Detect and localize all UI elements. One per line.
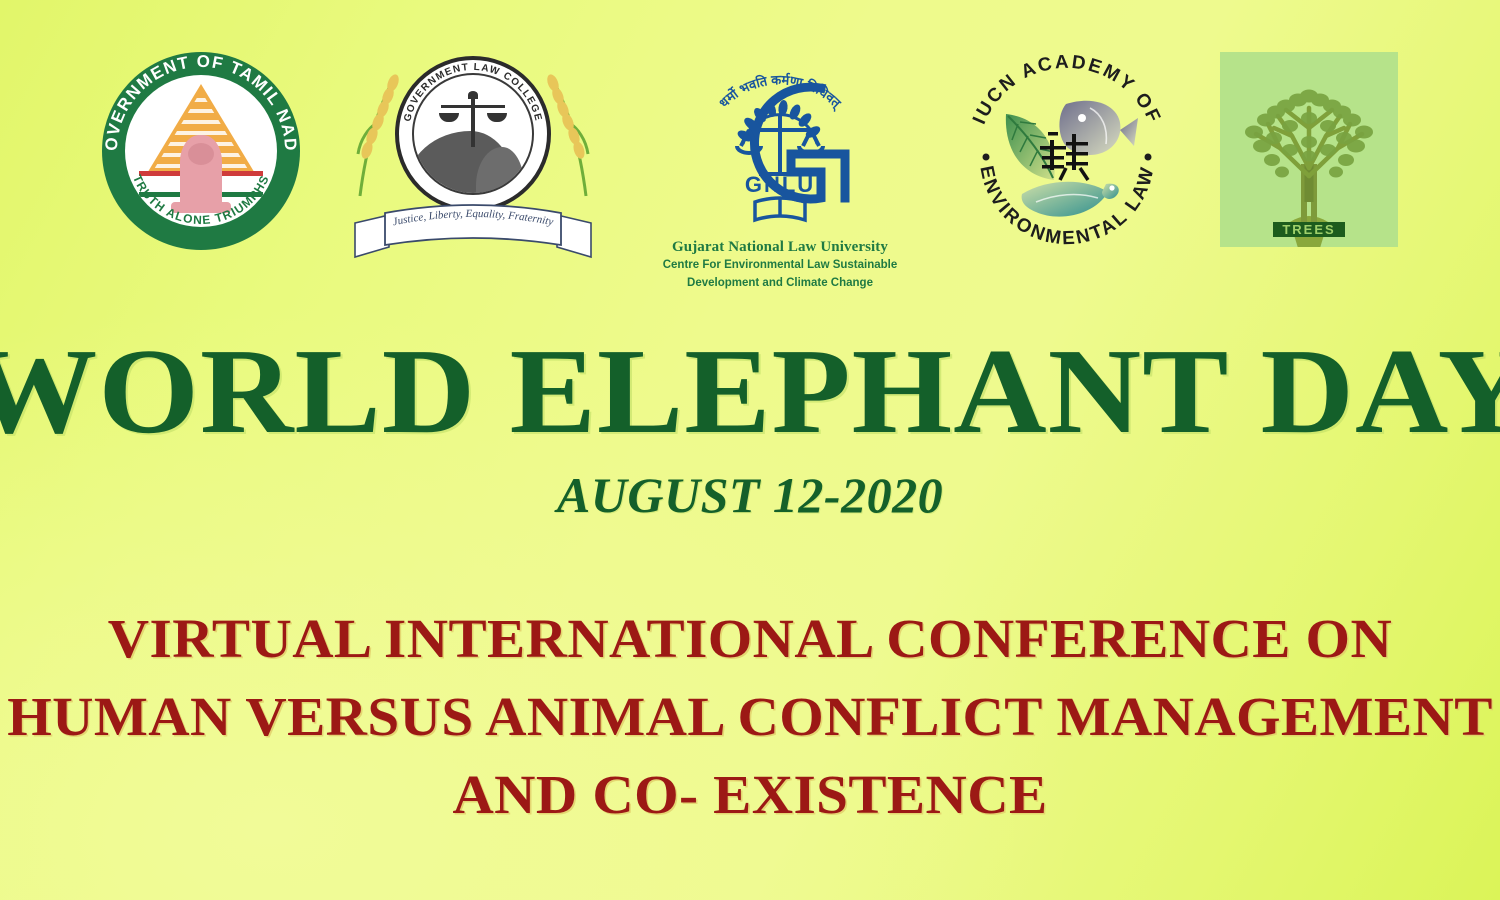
tn-inner-disc bbox=[125, 75, 277, 227]
trees-wordmark-label: TREES bbox=[1282, 222, 1335, 237]
logo-iucn-academy: IUCN ACADEMY OF ENVIRONMENTAL LAW bbox=[962, 52, 1172, 262]
svg-text:GOVERNMENT LAW COLLEGE: GOVERNMENT LAW COLLEGE bbox=[402, 62, 544, 123]
gnlu-sub-label-2: Development and Climate Change bbox=[663, 276, 898, 292]
lc-ring-text: GOVERNMENT LAW COLLEGE bbox=[395, 56, 551, 212]
tamil-nadu-emblem-icon: GOVERNMENT OF TAMIL NADU TRUTH ALONE TRI… bbox=[102, 52, 300, 250]
gnlu-monogram-label: GNLU bbox=[745, 172, 815, 197]
gnlu-name-label: Gujarat National Law University bbox=[663, 238, 898, 256]
gnlu-mark-icon: धर्मो भवति कर्मणा विधिवत् bbox=[685, 52, 875, 234]
gnlu-sub-label-1: Centre For Environmental Law Sustainable bbox=[663, 258, 898, 274]
logo-gnlu: धर्मो भवति कर्मणा विधिवत् bbox=[646, 52, 914, 291]
law-college-emblem-icon: GOVERNMENT LAW COLLEGE Justice, Liberty,… bbox=[348, 52, 598, 267]
subtitle-line-3: AND CO- EXISTENCE bbox=[0, 756, 1500, 834]
subtitle-line-1: VIRTUAL INTERNATIONAL CONFERENCE ON bbox=[0, 600, 1500, 678]
subtitle-block: VIRTUAL INTERNATIONAL CONFERENCE ON HUMA… bbox=[0, 600, 1500, 834]
bird-shape bbox=[1022, 182, 1119, 217]
tree-logo-panel: TREES bbox=[1220, 52, 1398, 247]
logo-trees: TREES bbox=[1220, 52, 1398, 247]
page-title: WORLD ELEPHANT DAY bbox=[0, 330, 1500, 454]
logo-law-college: GOVERNMENT LAW COLLEGE Justice, Liberty,… bbox=[348, 52, 598, 267]
lc-ribbon-banner: Justice, Liberty, Equality, Fraternity bbox=[351, 203, 595, 265]
headline-block: WORLD ELEPHANT DAY AUGUST 12-2020 bbox=[0, 330, 1500, 524]
fish-shape bbox=[1059, 101, 1138, 155]
logo-strip: GOVERNMENT OF TAMIL NADU TRUTH ALONE TRI… bbox=[0, 52, 1500, 307]
iucn-academy-icon: IUCN ACADEMY OF ENVIRONMENTAL LAW bbox=[962, 52, 1172, 262]
lc-ring-label: GOVERNMENT LAW COLLEGE bbox=[402, 62, 544, 123]
gnlu-caption: Gujarat National Law University Centre F… bbox=[663, 238, 898, 291]
logo-government-of-tamil-nadu: GOVERNMENT OF TAMIL NADU TRUTH ALONE TRI… bbox=[102, 52, 300, 250]
lion-capital-icon bbox=[180, 135, 222, 213]
conference-poster: GOVERNMENT OF TAMIL NADU TRUTH ALONE TRI… bbox=[0, 0, 1500, 900]
subtitle-line-2: HUMAN VERSUS ANIMAL CONFLICT MANAGEMENT bbox=[0, 678, 1500, 756]
event-date: AUGUST 12-2020 bbox=[0, 466, 1500, 524]
